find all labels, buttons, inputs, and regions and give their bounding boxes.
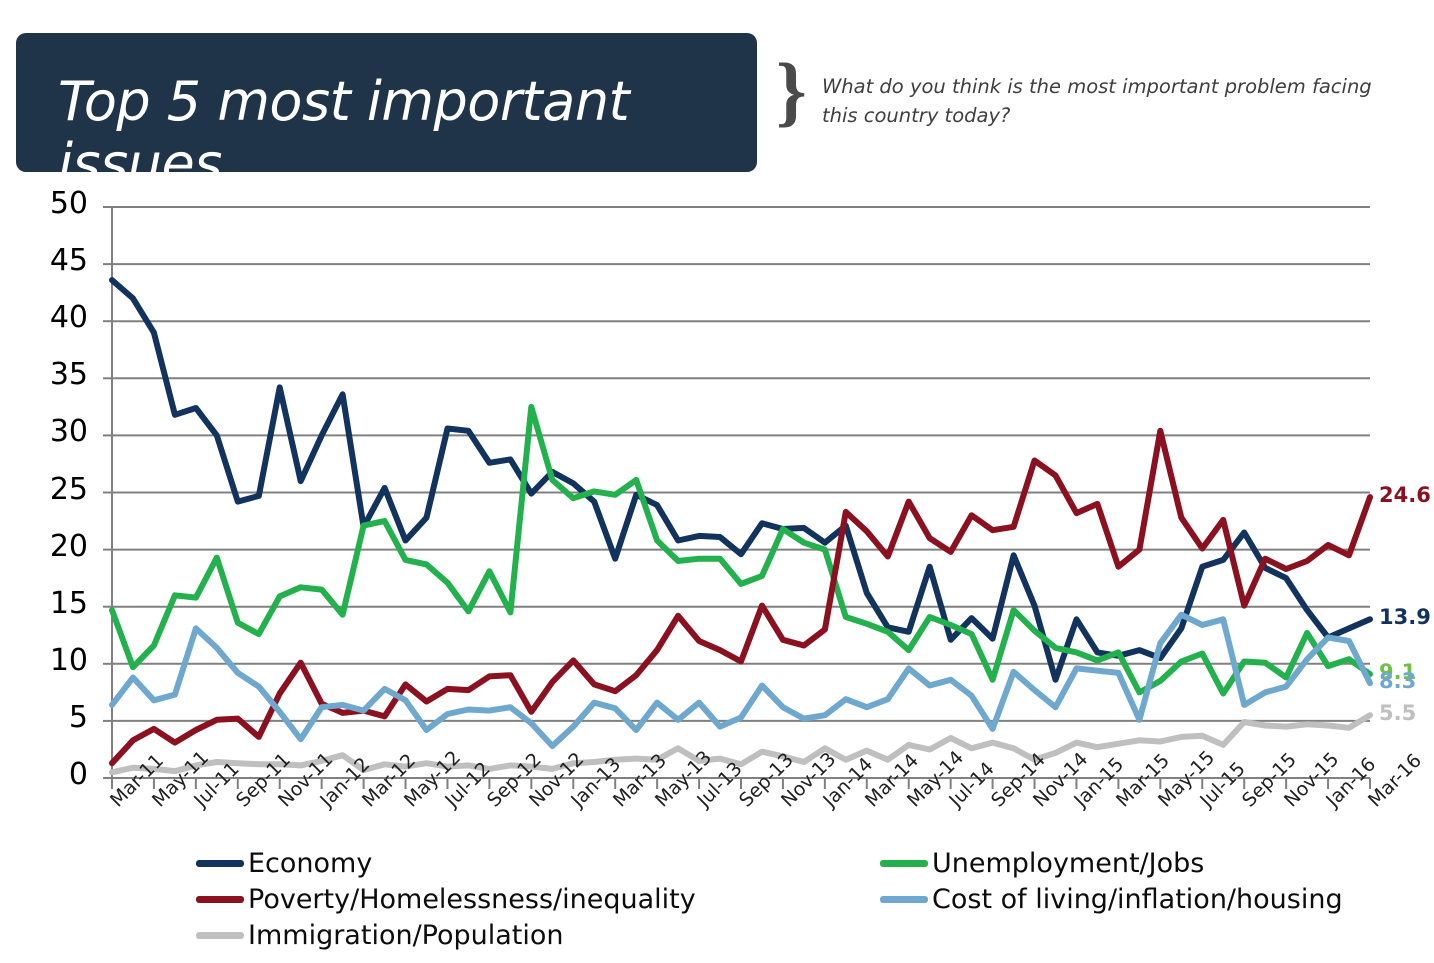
legend-item-label: Economy bbox=[248, 848, 372, 879]
legend-item-label: Poverty/Homelessness/inequality bbox=[248, 884, 696, 915]
series-end-value-label: 13.9 bbox=[1379, 605, 1431, 629]
y-axis-tick-label: 35 bbox=[28, 357, 88, 392]
legend-item[interactable]: Poverty/Homelessness/inequality bbox=[196, 884, 696, 915]
legend-item-label: Cost of living/inflation/housing bbox=[932, 884, 1343, 915]
legend-item[interactable]: Cost of living/inflation/housing bbox=[880, 884, 1343, 915]
series-end-value-label: 8.3 bbox=[1379, 669, 1416, 693]
series-line-immigration-population bbox=[112, 715, 1370, 772]
legend-item-label: Unemployment/Jobs bbox=[932, 848, 1204, 879]
y-axis-tick-label: 25 bbox=[28, 472, 88, 507]
legend-color-swatch bbox=[196, 860, 244, 867]
legend-color-swatch bbox=[880, 860, 928, 867]
legend-color-swatch bbox=[196, 896, 244, 903]
legend-color-swatch bbox=[880, 896, 928, 903]
legend-color-swatch bbox=[196, 932, 244, 939]
y-axis-tick-label: 5 bbox=[28, 700, 88, 735]
series-end-value-label: 24.6 bbox=[1379, 483, 1431, 507]
line-chart: 05101520253035404550Mar-11May-11Jul-11Se… bbox=[0, 0, 1434, 958]
y-axis-tick-label: 30 bbox=[28, 414, 88, 449]
y-axis-tick-label: 10 bbox=[28, 643, 88, 678]
legend-item[interactable]: Economy bbox=[196, 848, 372, 879]
series-line-economy bbox=[112, 280, 1370, 680]
y-axis-tick-label: 45 bbox=[28, 243, 88, 278]
legend-item[interactable]: Unemployment/Jobs bbox=[880, 848, 1204, 879]
y-axis-tick-label: 15 bbox=[28, 586, 88, 621]
chart-canvas bbox=[0, 0, 1434, 958]
y-axis-tick-label: 20 bbox=[28, 529, 88, 564]
legend-item-label: Immigration/Population bbox=[248, 920, 564, 951]
y-axis-tick-label: 40 bbox=[28, 300, 88, 335]
legend-item[interactable]: Immigration/Population bbox=[196, 920, 564, 951]
series-line-cost-of-living-inflation-housing bbox=[112, 615, 1370, 746]
y-axis-tick-label: 50 bbox=[28, 186, 88, 221]
series-end-value-label: 5.5 bbox=[1379, 701, 1416, 725]
y-axis-tick-label: 0 bbox=[28, 757, 88, 792]
